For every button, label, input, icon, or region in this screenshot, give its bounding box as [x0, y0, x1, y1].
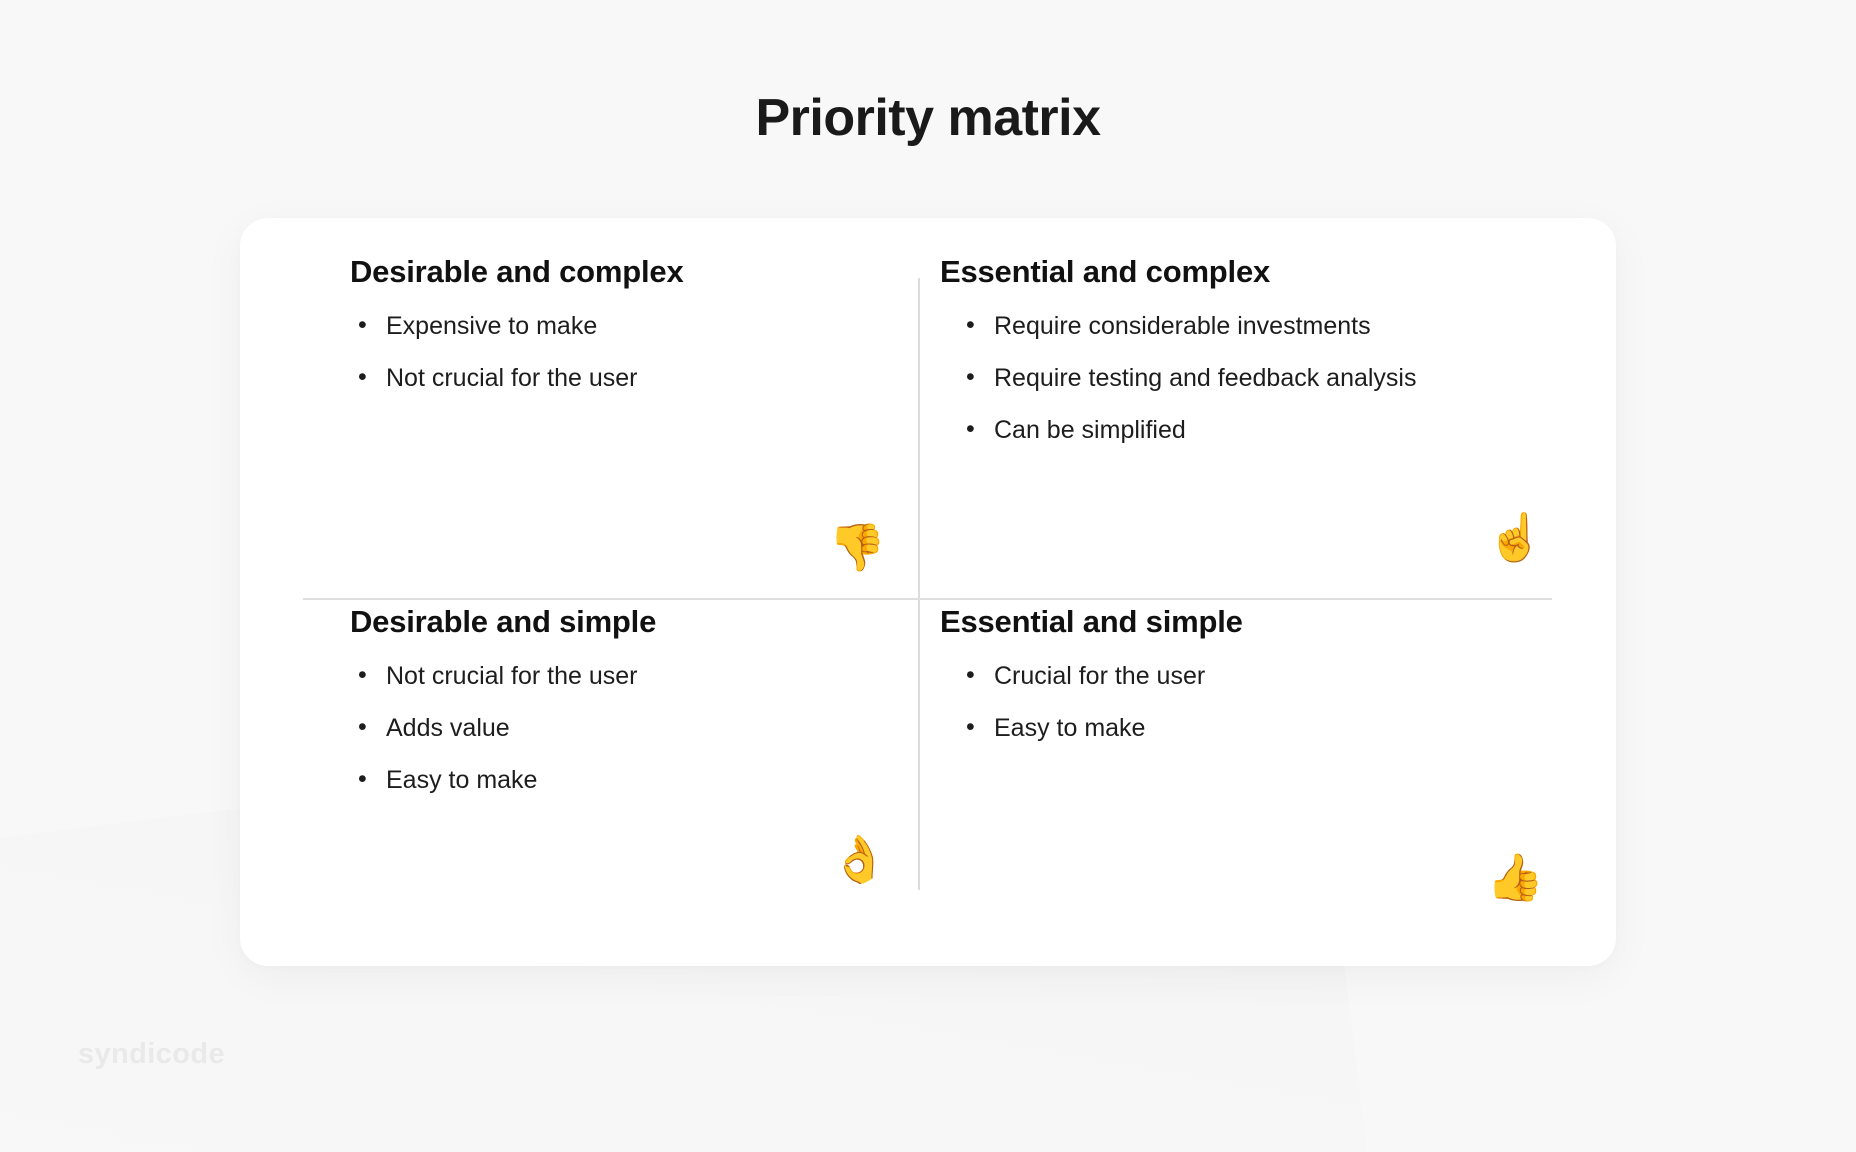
list-item: Easy to make: [958, 712, 1428, 744]
quadrant-bullet-list: Crucial for the user Easy to make: [958, 660, 1552, 764]
thumbs-down-icon: 👎: [829, 524, 886, 570]
priority-matrix-card: Desirable and complex Expensive to make …: [240, 218, 1616, 966]
page-title: Priority matrix: [0, 88, 1856, 148]
quadrant-title: Essential and complex: [940, 254, 1552, 290]
syndicode-watermark: syndicode: [78, 1038, 225, 1071]
list-item: Expensive to make: [350, 310, 820, 342]
matrix-horizontal-divider: [303, 598, 1552, 600]
quadrant-title: Desirable and complex: [350, 254, 912, 290]
list-item: Not crucial for the user: [350, 362, 820, 394]
list-item: Can be simplified: [958, 414, 1428, 446]
quadrant-essential-and-simple: Essential and simple Crucial for the use…: [940, 604, 1552, 934]
list-item: Require considerable investments: [958, 310, 1428, 342]
list-item: Crucial for the user: [958, 660, 1428, 692]
matrix-vertical-divider: [918, 278, 920, 890]
quadrant-bullet-list: Expensive to make Not crucial for the us…: [350, 310, 912, 414]
list-item: Easy to make: [350, 764, 820, 796]
list-item: Not crucial for the user: [350, 660, 820, 692]
quadrant-title: Desirable and simple: [350, 604, 912, 640]
quadrant-bullet-list: Require considerable investments Require…: [958, 310, 1552, 466]
list-item: Adds value: [350, 712, 820, 744]
quadrant-essential-and-complex: Essential and complex Require considerab…: [940, 254, 1552, 594]
quadrant-title: Essential and simple: [940, 604, 1552, 640]
quadrant-desirable-and-complex: Desirable and complex Expensive to make …: [302, 254, 912, 594]
ok-hand-icon: 👌: [831, 836, 888, 882]
quadrant-bullet-list: Not crucial for the user Adds value Easy…: [350, 660, 912, 816]
thumbs-up-icon: 👍: [1487, 854, 1544, 900]
list-item: Require testing and feedback analysis: [958, 362, 1428, 394]
quadrant-desirable-and-simple: Desirable and simple Not crucial for the…: [302, 604, 912, 934]
index-pointing-up-icon: ☝️: [1487, 514, 1544, 560]
